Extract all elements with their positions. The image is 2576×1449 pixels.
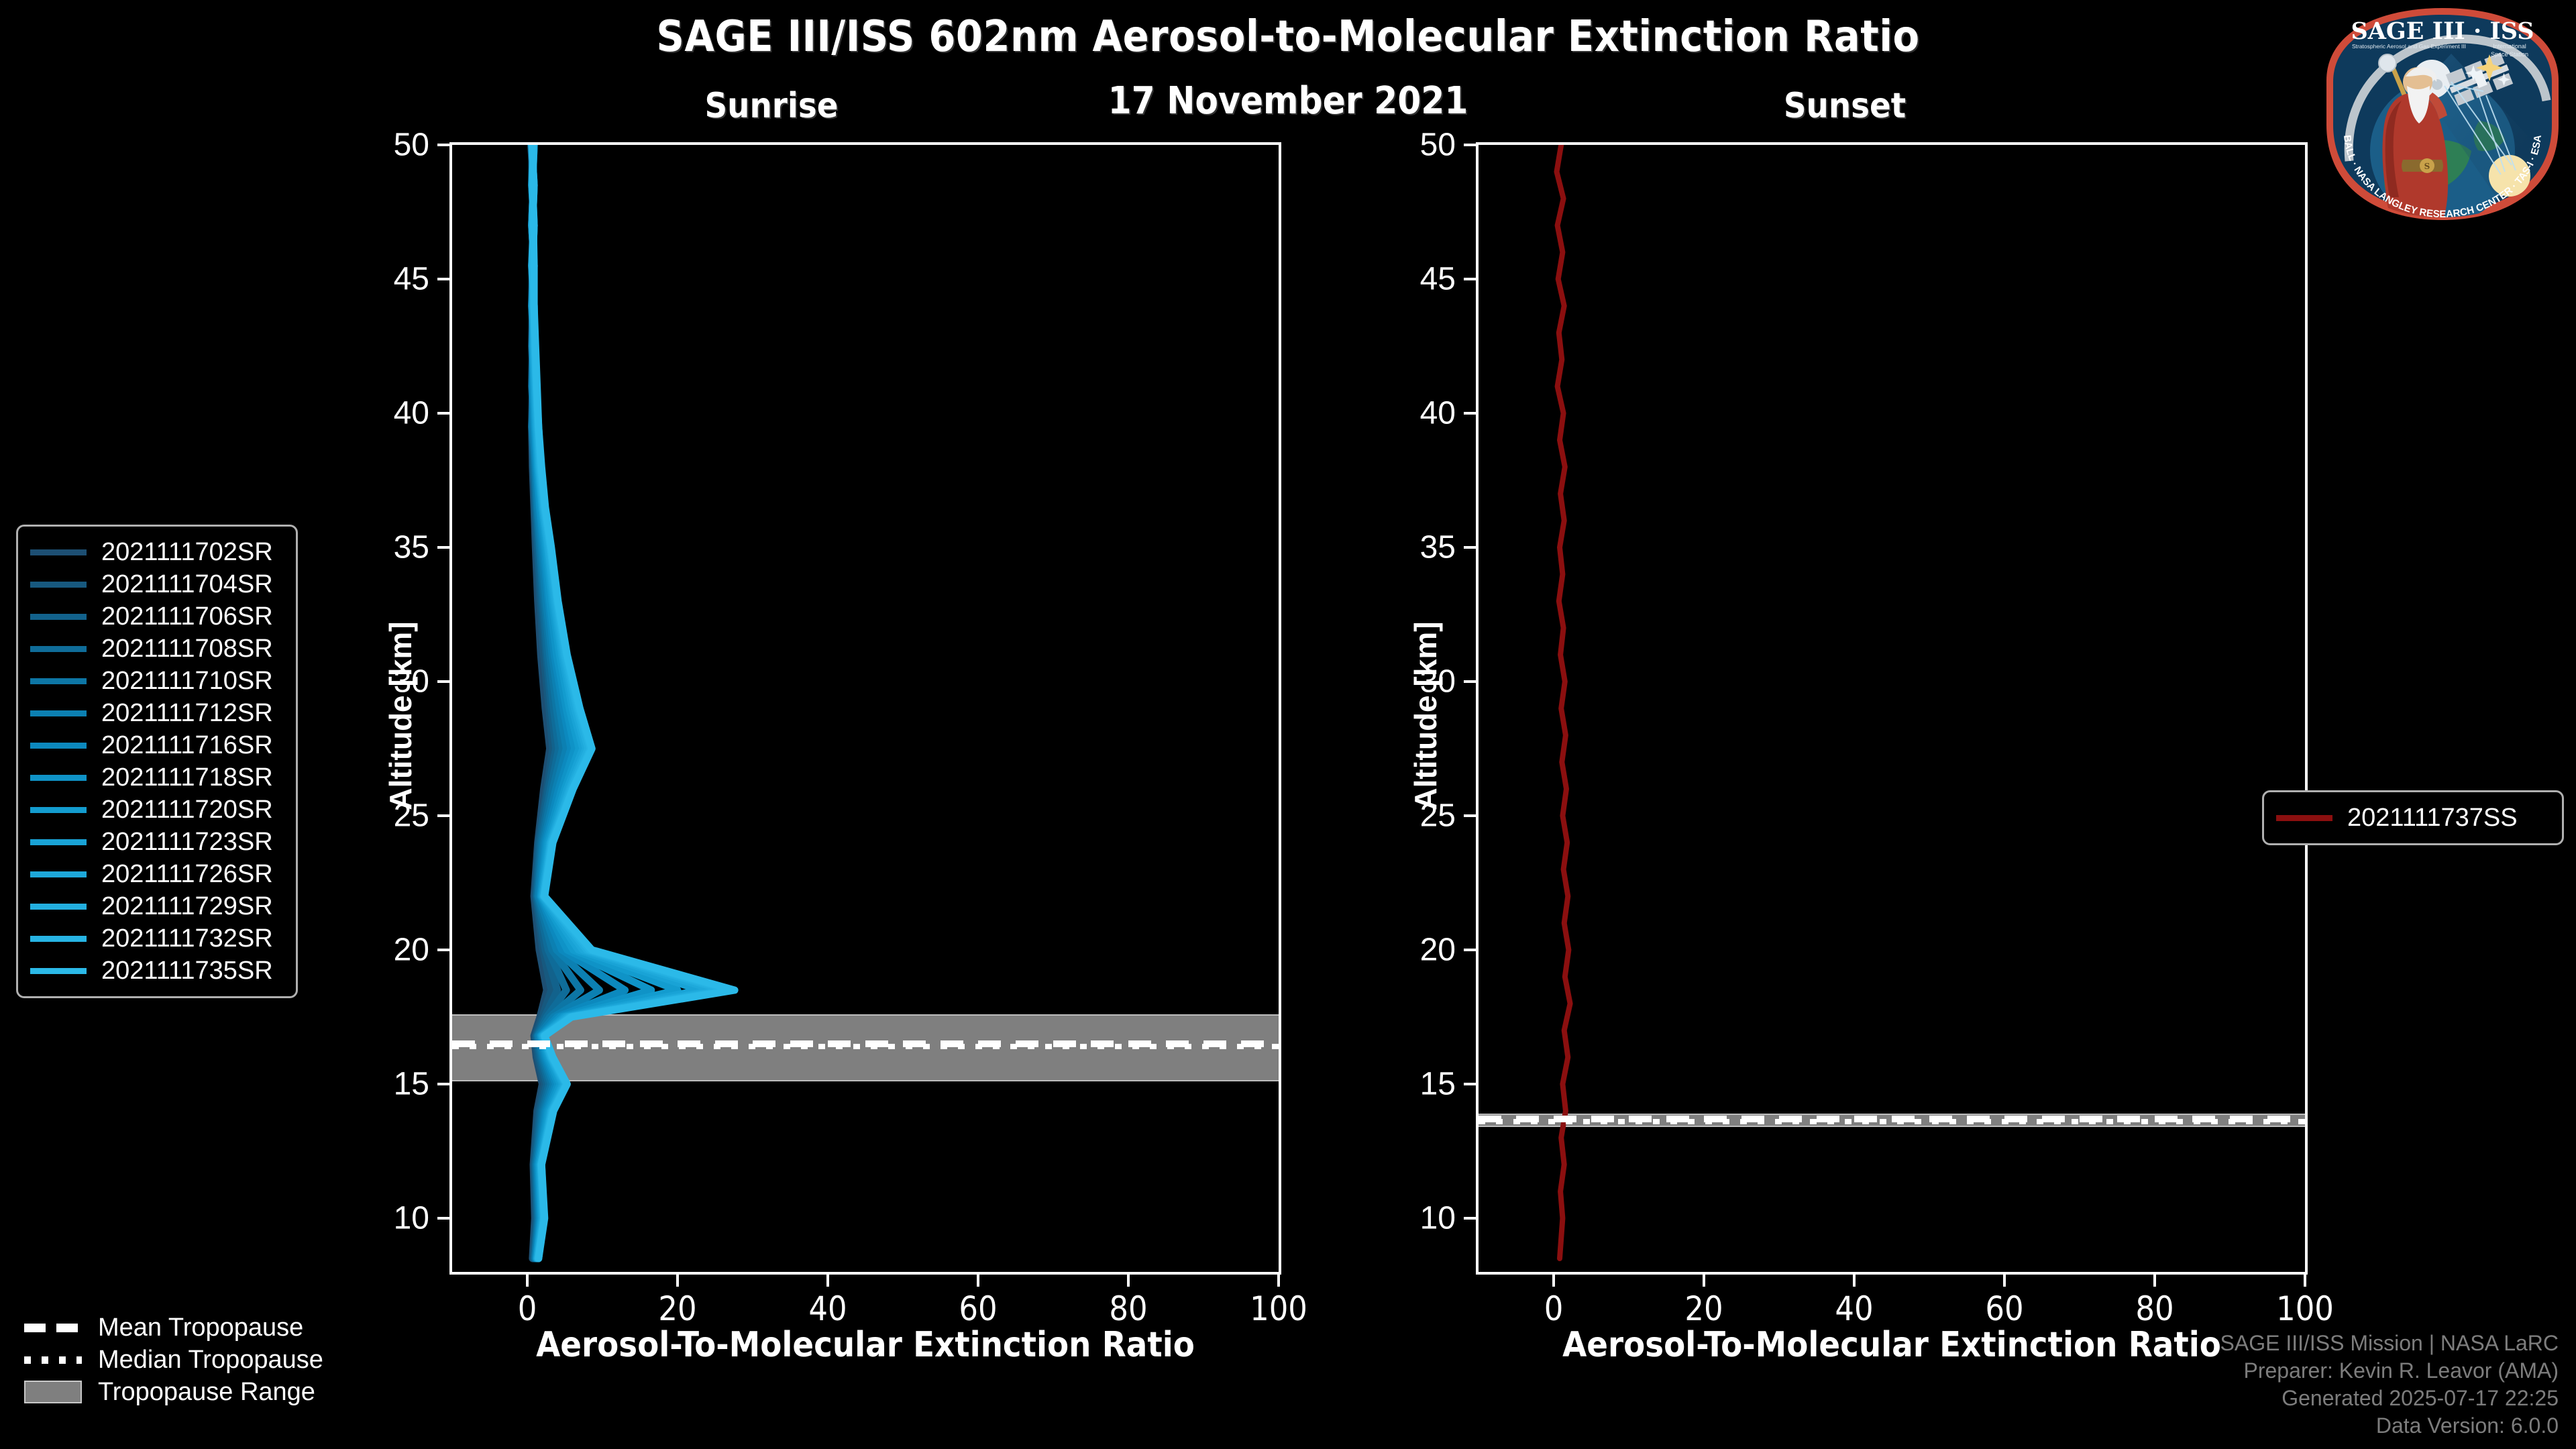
x-tick-mark (526, 1275, 529, 1287)
y-tick-label: 15 (394, 1066, 429, 1103)
sunset-panel-heading: Sunset (1704, 86, 1986, 126)
footer-line-3: Generated 2025-07-17 22:25 (2220, 1385, 2559, 1412)
sunrise-legend-item[interactable]: 2021111710SR (30, 665, 284, 697)
sunrise-legend-item[interactable]: 2021111704SR (30, 568, 284, 600)
sunset-legend-item[interactable]: 2021111737SS (2276, 802, 2550, 834)
svg-text:S: S (2424, 162, 2430, 171)
y-tick-label: 50 (1420, 127, 1456, 164)
legend-item-label: 2021111710SR (101, 667, 273, 696)
y-tick-label: 25 (394, 798, 429, 835)
sunrise-legend[interactable]: 2021111702SR2021111704SR2021111706SR2021… (16, 525, 298, 998)
x-tick-mark (1703, 1275, 1705, 1287)
tropopause-legend: Mean TropopauseMedian TropopauseTropopau… (24, 1311, 400, 1408)
x-tick-mark (1552, 1275, 1555, 1287)
legend-color-swatch (30, 968, 87, 974)
y-tick-mark (1464, 814, 1476, 817)
figure-root: SAGE III/ISS 602nm Aerosol-to-Molecular … (0, 0, 2576, 1449)
profile-line (1557, 145, 1570, 1258)
y-tick-label: 45 (1420, 261, 1456, 298)
x-tick-label: 20 (658, 1289, 696, 1328)
legend-item-label: 2021111726SR (101, 860, 273, 889)
y-tick-label: 20 (1420, 932, 1456, 969)
sunrise-y-tick-labels: 101520253035404550 (322, 0, 429, 1449)
patch-subtitle-left: Stratospheric Aerosol and Gas Experiment… (2352, 43, 2466, 50)
sunrise-legend-item[interactable]: 2021111708SR (30, 633, 284, 665)
tropopause-legend-item: Tropopause Range (24, 1376, 400, 1408)
legend-color-swatch (30, 678, 87, 684)
y-tick-mark (1464, 144, 1476, 146)
y-tick-label: 10 (1420, 1200, 1456, 1237)
legend-item-label: 2021111706SR (101, 602, 273, 631)
legend-item-label: 2021111735SR (101, 957, 273, 985)
tropopause-legend-swatch-dashed (24, 1324, 82, 1332)
sunrise-legend-item[interactable]: 2021111712SR (30, 697, 284, 729)
y-tick-label: 20 (394, 932, 429, 969)
x-tick-label: 20 (1684, 1289, 1723, 1328)
tropopause-legend-label: Tropopause Range (98, 1378, 315, 1407)
legend-color-swatch (30, 807, 87, 813)
sunrise-legend-item[interactable]: 2021111726SR (30, 858, 284, 890)
sage-iii-iss-mission-patch: S SAGE III · ISS Stratospheric Aerosol a… (2320, 7, 2565, 221)
tropopause-legend-item: Median Tropopause (24, 1344, 400, 1376)
x-tick-mark (1127, 1275, 1130, 1287)
y-tick-label: 50 (394, 127, 429, 164)
legend-item-label: 2021111732SR (101, 924, 273, 953)
sunrise-panel-heading: Sunrise (631, 86, 912, 126)
sunrise-legend-item[interactable]: 2021111732SR (30, 922, 284, 955)
y-tick-label: 45 (394, 261, 429, 298)
y-tick-label: 25 (1420, 798, 1456, 835)
sunset-y-tick-labels: 101520253035404550 (1348, 0, 1456, 1449)
y-tick-label: 40 (394, 395, 429, 432)
legend-item-label: 2021111716SR (101, 731, 273, 760)
x-tick-label: 40 (1835, 1289, 1873, 1328)
legend-item-label: 2021111720SR (101, 796, 273, 824)
patch-subtitle-right-1: International (2493, 43, 2526, 50)
x-tick-mark (826, 1275, 829, 1287)
sunrise-legend-item[interactable]: 2021111729SR (30, 890, 284, 922)
y-tick-mark (1464, 1217, 1476, 1220)
y-tick-mark (437, 278, 449, 280)
sunrise-median-tropopause-line (452, 1044, 1279, 1049)
sunrise-legend-item[interactable]: 2021111723SR (30, 826, 284, 858)
legend-color-swatch (30, 582, 87, 588)
legend-color-swatch (30, 614, 87, 620)
y-tick-mark (437, 1217, 449, 1220)
legend-item-label: 2021111729SR (101, 892, 273, 921)
footer-line-2: Preparer: Kevin R. Leavor (AMA) (2220, 1357, 2559, 1385)
legend-item-label: 2021111723SR (101, 828, 273, 857)
footer-credits: SAGE III/ISS Mission | NASA LaRC Prepare… (2220, 1330, 2559, 1440)
y-tick-mark (1464, 680, 1476, 683)
tropopause-legend-label: Mean Tropopause (98, 1313, 303, 1342)
y-tick-mark (437, 412, 449, 415)
y-tick-label: 30 (394, 663, 429, 700)
sunrise-x-axis-label: Aerosol-To-Molecular Extinction Ratio (449, 1325, 1281, 1365)
tropopause-legend-item: Mean Tropopause (24, 1311, 400, 1344)
x-tick-mark (977, 1275, 979, 1287)
legend-item-label: 2021111718SR (101, 763, 273, 792)
y-tick-mark (437, 680, 449, 683)
y-tick-mark (1464, 412, 1476, 415)
legend-item-label: 2021111704SR (101, 570, 273, 599)
legend-item-label: 2021111708SR (101, 635, 273, 663)
sunrise-plot-area (449, 142, 1281, 1275)
footer-line-1: SAGE III/ISS Mission | NASA LaRC (2220, 1330, 2559, 1357)
y-tick-mark (437, 949, 449, 951)
legend-item-label: 2021111737SS (2347, 804, 2518, 833)
legend-color-swatch (30, 710, 87, 716)
y-tick-mark (1464, 278, 1476, 280)
x-tick-label: 0 (1544, 1289, 1564, 1328)
legend-item-label: 2021111702SR (101, 538, 273, 567)
legend-color-swatch (2276, 815, 2332, 821)
legend-color-swatch (30, 775, 87, 781)
tropopause-legend-swatch-band (24, 1381, 82, 1403)
patch-subtitle-right-2: Space Station (2491, 51, 2528, 58)
legend-color-swatch (30, 549, 87, 555)
sunrise-legend-item[interactable]: 2021111720SR (30, 794, 284, 826)
legend-color-swatch (30, 743, 87, 749)
x-tick-mark (1853, 1275, 1856, 1287)
sunrise-legend-item[interactable]: 2021111718SR (30, 761, 284, 794)
tropopause-legend-label: Median Tropopause (98, 1346, 323, 1375)
y-tick-mark (437, 546, 449, 549)
x-tick-label: 40 (808, 1289, 847, 1328)
y-tick-mark (1464, 949, 1476, 951)
x-tick-mark (676, 1275, 679, 1287)
x-tick-mark (2304, 1275, 2306, 1287)
legend-color-swatch (30, 839, 87, 845)
sunset-profile-lines (1479, 145, 2305, 1272)
sunrise-legend-item[interactable]: 2021111716SR (30, 729, 284, 761)
y-tick-label: 15 (1420, 1066, 1456, 1103)
y-tick-mark (437, 144, 449, 146)
sunset-plot-area (1476, 142, 2308, 1275)
sunrise-legend-item[interactable]: 2021111735SR (30, 955, 284, 987)
x-tick-label: 100 (2276, 1289, 2334, 1328)
y-tick-mark (437, 814, 449, 817)
x-tick-mark (2153, 1275, 2156, 1287)
patch-title: SAGE III · ISS (2351, 17, 2534, 45)
x-tick-label: 100 (1250, 1289, 1307, 1328)
y-tick-label: 30 (1420, 663, 1456, 700)
sunrise-legend-item[interactable]: 2021111702SR (30, 536, 284, 568)
sunset-median-tropopause-line (1479, 1119, 2305, 1124)
y-tick-label: 35 (1420, 529, 1456, 566)
x-tick-mark (2003, 1275, 2006, 1287)
sunset-legend[interactable]: 2021111737SS (2262, 790, 2564, 845)
x-tick-label: 80 (1109, 1289, 1147, 1328)
y-tick-label: 35 (394, 529, 429, 566)
sunset-x-axis-label: Aerosol-To-Molecular Extinction Ratio (1476, 1325, 2308, 1365)
y-tick-label: 10 (394, 1200, 429, 1237)
footer-line-4: Data Version: 6.0.0 (2220, 1412, 2559, 1440)
legend-color-swatch (30, 871, 87, 877)
y-tick-mark (437, 1083, 449, 1085)
legend-color-swatch (30, 936, 87, 942)
legend-item-label: 2021111712SR (101, 699, 273, 728)
x-tick-label: 0 (518, 1289, 537, 1328)
legend-color-swatch (30, 904, 87, 910)
sunrise-profile-lines (452, 145, 1279, 1272)
sunrise-legend-item[interactable]: 2021111706SR (30, 600, 284, 633)
tropopause-legend-swatch-dotted (24, 1356, 82, 1364)
y-tick-mark (1464, 1083, 1476, 1085)
x-tick-label: 80 (2135, 1289, 2173, 1328)
y-tick-label: 40 (1420, 395, 1456, 432)
y-tick-mark (1464, 546, 1476, 549)
x-tick-label: 60 (1985, 1289, 2023, 1328)
x-tick-mark (1277, 1275, 1280, 1287)
legend-color-swatch (30, 646, 87, 652)
x-tick-label: 60 (959, 1289, 997, 1328)
